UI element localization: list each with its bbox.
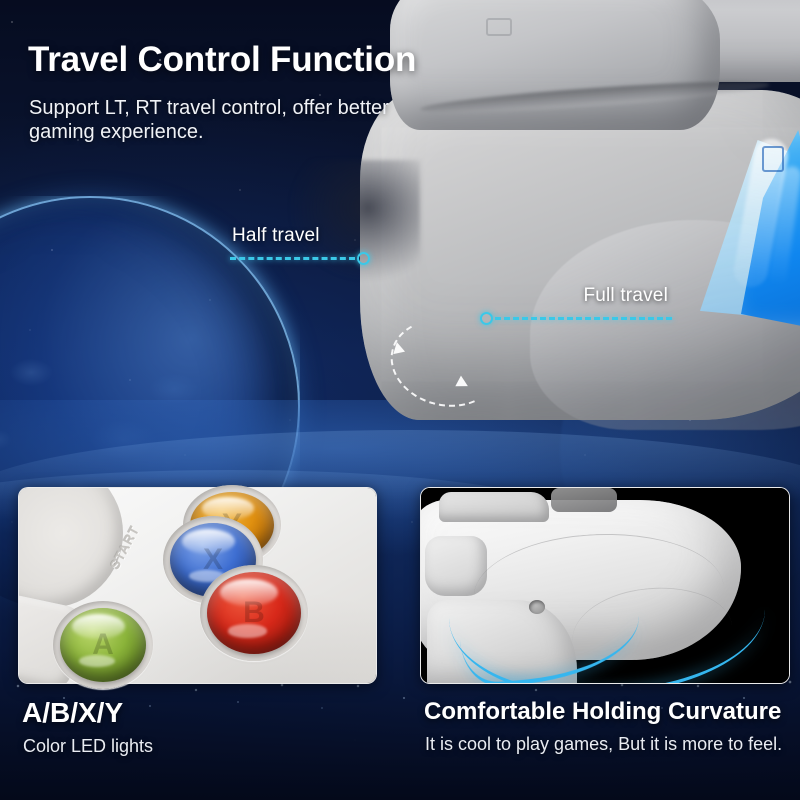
grip-caption-heading: Comfortable Holding Curvature (424, 698, 781, 726)
button-cap: B (207, 572, 301, 654)
page-subtitle: Support LT, RT travel control, offer bet… (29, 96, 389, 145)
abxy-caption-subheading: Color LED lights (23, 736, 153, 757)
circle-marker-icon (480, 312, 493, 325)
button-glyph-a: A (60, 608, 146, 682)
callout-half-travel: Half travel (230, 225, 370, 264)
page-title: Travel Control Function (28, 40, 416, 80)
callout-full-travel: Full travel (480, 285, 672, 324)
abxy-caption-heading: A/B/X/Y (22, 697, 123, 729)
callout-full-travel-label: Full travel (480, 285, 668, 307)
dashed-line (495, 317, 672, 320)
panel-grip-photo (420, 487, 790, 684)
callout-half-travel-label: Half travel (232, 225, 370, 247)
trigger-top-marking (762, 146, 784, 172)
callout-leader-line (480, 312, 672, 324)
lb-bumper-emboss-icon (486, 18, 512, 36)
grip-caption-subheading: It is cool to play games, But it is more… (425, 734, 785, 756)
grip-bumper (439, 492, 549, 522)
dashed-line (230, 257, 355, 260)
product-feature-graphic: Half travel Full travel Travel Control F… (0, 0, 800, 800)
button-a[interactable]: A (60, 608, 146, 682)
grip-scene (421, 488, 789, 683)
callout-leader-line (230, 252, 370, 264)
circle-marker-icon (357, 252, 370, 265)
grip-bumper-secondary (551, 488, 617, 512)
button-b[interactable]: B (207, 572, 301, 654)
button-cap: A (60, 608, 146, 682)
button-glyph-b: B (207, 572, 301, 654)
